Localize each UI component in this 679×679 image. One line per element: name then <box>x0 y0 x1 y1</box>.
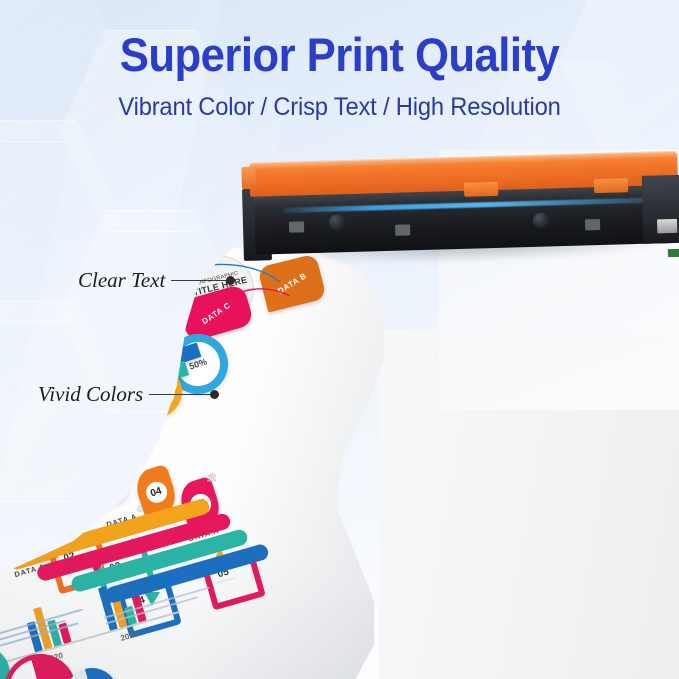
cartridge-marker-3 <box>585 219 600 230</box>
product-image: Superior Print Quality Vibrant Color / C… <box>0 0 679 679</box>
callout-clear-text-leader <box>171 280 227 282</box>
callout-vivid-colors-leader <box>149 394 211 396</box>
toner-cartridge <box>241 151 679 288</box>
callout-clear-text-label: Clear Text <box>78 268 165 293</box>
cartridge-screw-right <box>533 212 549 228</box>
callout-vivid-colors-dot <box>210 390 219 399</box>
page-subtitle: Vibrant Color / Crisp Text / High Resolu… <box>17 79 662 122</box>
header: Superior Print Quality Vibrant Color / C… <box>0 0 679 122</box>
bank-icon: 🏛 <box>206 472 217 483</box>
cartridge-screw-left <box>329 214 345 230</box>
callout-vivid-colors-label: Vivid Colors <box>38 382 143 407</box>
callout-vivid-colors: Vivid Colors <box>38 382 219 407</box>
cartridge-right-end <box>642 175 679 244</box>
cartridge-tab-1 <box>464 182 498 197</box>
cartridge-marker-2 <box>395 224 410 235</box>
page-title: Superior Print Quality <box>24 0 655 79</box>
cartridge-marker-1 <box>289 221 304 232</box>
cartridge-tab-2 <box>594 178 628 193</box>
callout-clear-text: Clear Text <box>78 268 235 293</box>
cartridge-orange-edge <box>241 167 256 189</box>
callout-clear-text-dot <box>226 276 235 285</box>
cartridge-contact <box>668 249 679 257</box>
cartridge-chip <box>657 219 677 234</box>
